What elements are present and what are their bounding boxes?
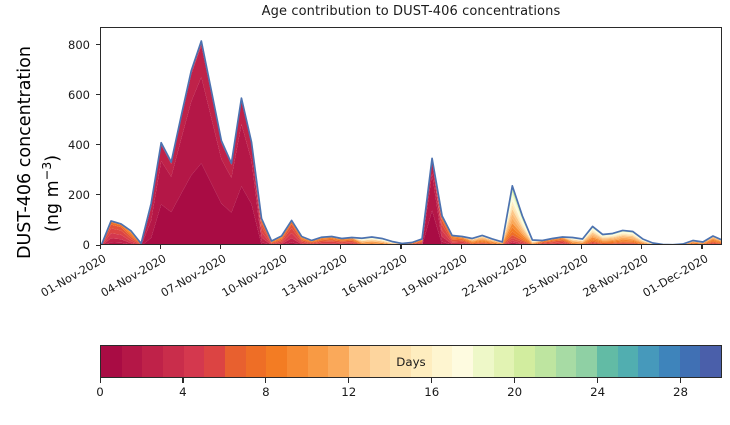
- y-tick-label: 400: [50, 138, 90, 152]
- colorbar-segment: [680, 346, 701, 377]
- y-axis-label: DUST-406 concentration (ng m−3): [0, 0, 50, 272]
- x-tick-mark: [581, 245, 582, 249]
- colorbar-tick-mark: [597, 378, 598, 383]
- x-tick-label: 25-Nov-2020: [519, 252, 590, 300]
- area-chart-svg: [101, 28, 722, 245]
- colorbar-tick-label: 4: [179, 385, 187, 399]
- colorbar-segment: [638, 346, 659, 377]
- y-units-exponent: −3: [39, 162, 54, 181]
- colorbar-segment: [473, 346, 494, 377]
- colorbar-segment: [390, 346, 411, 377]
- colorbar-segment: [122, 346, 143, 377]
- x-tick-mark: [521, 245, 522, 249]
- colorbar-segment: [246, 346, 267, 377]
- x-tick-label: 07-Nov-2020: [158, 252, 229, 300]
- colorbar-segment: [556, 346, 577, 377]
- colorbar-tick-label: 8: [262, 385, 270, 399]
- y-axis-label-line1: DUST-406 concentration: [15, 46, 35, 259]
- x-tick-label: 04-Nov-2020: [98, 252, 169, 300]
- colorbar-segment: [266, 346, 287, 377]
- colorbar-tick-label: 28: [673, 385, 688, 399]
- figure-canvas: Age contribution to DUST-406 concentrati…: [0, 0, 730, 425]
- colorbar-tick-label: 16: [424, 385, 439, 399]
- colorbar-segment: [432, 346, 453, 377]
- x-tick-label: 16-Nov-2020: [339, 252, 410, 300]
- x-tick-mark: [461, 245, 462, 249]
- colorbar-tick-mark: [514, 378, 515, 383]
- plot-area: [100, 27, 722, 245]
- colorbar-segment: [514, 346, 535, 377]
- x-tick-mark: [400, 245, 401, 249]
- colorbar-segment: [700, 346, 721, 377]
- x-tick-mark: [340, 245, 341, 249]
- x-tick-mark: [280, 245, 281, 249]
- colorbar-tick-label: 12: [341, 385, 356, 399]
- x-tick-label: 10-Nov-2020: [218, 252, 289, 300]
- colorbar-tick-mark: [431, 378, 432, 383]
- x-tick-mark: [220, 245, 221, 249]
- colorbar-segment: [411, 346, 432, 377]
- colorbar-segment: [659, 346, 680, 377]
- colorbar-segment: [618, 346, 639, 377]
- colorbar-tick-mark: [265, 378, 266, 383]
- y-tick-label: 0: [50, 238, 90, 252]
- colorbar-segment: [452, 346, 473, 377]
- colorbar-segment: [142, 346, 163, 377]
- x-tick-mark: [100, 245, 101, 249]
- colorbar[interactable]: [100, 345, 722, 378]
- colorbar-segment: [308, 346, 329, 377]
- x-tick-label: 19-Nov-2020: [399, 252, 470, 300]
- colorbar-segment: [597, 346, 618, 377]
- colorbar-segment: [101, 346, 122, 377]
- colorbar-segment: [370, 346, 391, 377]
- colorbar-segment: [184, 346, 205, 377]
- x-tick-label: 22-Nov-2020: [459, 252, 530, 300]
- colorbar-segment: [349, 346, 370, 377]
- colorbar-tick-label: 0: [96, 385, 104, 399]
- colorbar-segment: [535, 346, 556, 377]
- x-tick-mark: [701, 245, 702, 249]
- y-tick-label: 800: [50, 38, 90, 52]
- colorbar-tick-mark: [100, 378, 101, 383]
- chart-title: Age contribution to DUST-406 concentrati…: [100, 4, 722, 19]
- x-tick-label: 13-Nov-2020: [279, 252, 350, 300]
- colorbar-segment: [204, 346, 225, 377]
- colorbar-segment: [576, 346, 597, 377]
- colorbar-tick-label: 20: [507, 385, 522, 399]
- y-tick-label: 600: [50, 88, 90, 102]
- x-tick-label: 01-Dec-2020: [640, 252, 711, 300]
- x-tick-label: 28-Nov-2020: [580, 252, 651, 300]
- colorbar-tick-mark: [680, 378, 681, 383]
- x-tick-mark: [641, 245, 642, 249]
- colorbar-segment: [494, 346, 515, 377]
- x-tick-mark: [160, 245, 161, 249]
- colorbar-segment: [328, 346, 349, 377]
- colorbar-tick-label: 24: [590, 385, 605, 399]
- colorbar-segment: [163, 346, 184, 377]
- colorbar-tick-mark: [348, 378, 349, 383]
- colorbar-segment: [225, 346, 246, 377]
- colorbar-segment: [287, 346, 308, 377]
- y-tick-label: 200: [50, 188, 90, 202]
- y-units-suffix: ): [43, 155, 63, 162]
- colorbar-tick-mark: [182, 378, 183, 383]
